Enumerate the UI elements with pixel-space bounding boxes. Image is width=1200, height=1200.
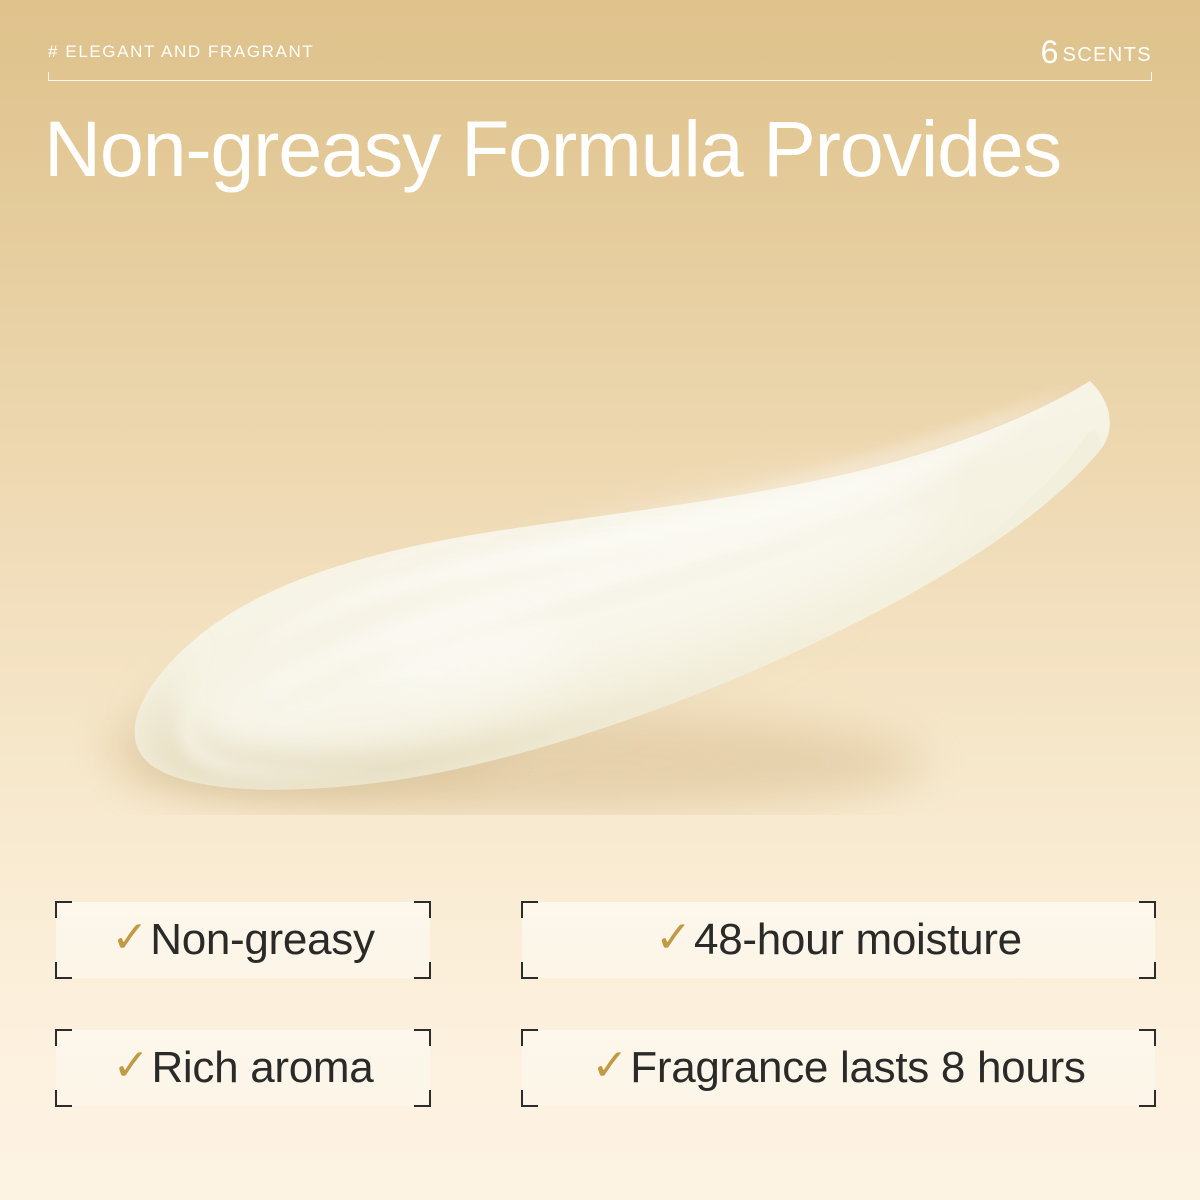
check-icon: ✓ — [113, 1044, 150, 1088]
corner-bracket-icon — [1139, 1090, 1156, 1107]
feature-list: ✓ Non-greasy ✓ 48-hour moisture ✓ Rich a… — [0, 898, 1200, 1113]
corner-bracket-icon — [55, 1029, 72, 1046]
scent-count-label: 6SCENTS — [1041, 36, 1152, 73]
corner-bracket-icon — [414, 962, 431, 979]
corner-bracket-icon — [414, 1090, 431, 1107]
check-icon: ✓ — [111, 916, 148, 960]
corner-bracket-icon — [55, 1090, 72, 1107]
cream-swatch-image — [55, 345, 1145, 815]
header-divider — [48, 80, 1152, 81]
feature-chip-non-greasy[interactable]: ✓ Non-greasy — [56, 902, 430, 978]
corner-bracket-icon — [521, 962, 538, 979]
promo-page: # ELEGANT AND FRAGRANT 6SCENTS Non-greas… — [0, 0, 1200, 1200]
feature-chip-fragrance-lasts-8-hours[interactable]: ✓ Fragrance lasts 8 hours — [522, 1030, 1155, 1106]
feature-label: Rich aroma — [151, 1046, 373, 1090]
check-icon: ✓ — [655, 916, 692, 960]
check-icon: ✓ — [591, 1044, 628, 1088]
corner-bracket-icon — [414, 1029, 431, 1046]
corner-bracket-icon — [1139, 1029, 1156, 1046]
feature-chip-rich-aroma[interactable]: ✓ Rich aroma — [56, 1030, 430, 1106]
feature-label: Fragrance lasts 8 hours — [630, 1046, 1085, 1090]
corner-bracket-icon — [55, 901, 72, 918]
corner-bracket-icon — [521, 1090, 538, 1107]
corner-bracket-icon — [414, 901, 431, 918]
corner-bracket-icon — [521, 1029, 538, 1046]
header: # ELEGANT AND FRAGRANT 6SCENTS — [48, 42, 1152, 88]
corner-bracket-icon — [1139, 962, 1156, 979]
feature-label: 48-hour moisture — [694, 918, 1022, 962]
eyebrow-label: # ELEGANT AND FRAGRANT — [48, 42, 314, 62]
page-title: Non-greasy Formula Provides — [44, 101, 1174, 197]
corner-bracket-icon — [55, 962, 72, 979]
scent-count-number: 6 — [1041, 34, 1059, 70]
feature-label: Non-greasy — [150, 918, 374, 962]
corner-bracket-icon — [521, 901, 538, 918]
feature-chip-48-hour-moisture[interactable]: ✓ 48-hour moisture — [522, 902, 1155, 978]
scent-count-word: SCENTS — [1062, 44, 1152, 66]
corner-bracket-icon — [1139, 901, 1156, 918]
